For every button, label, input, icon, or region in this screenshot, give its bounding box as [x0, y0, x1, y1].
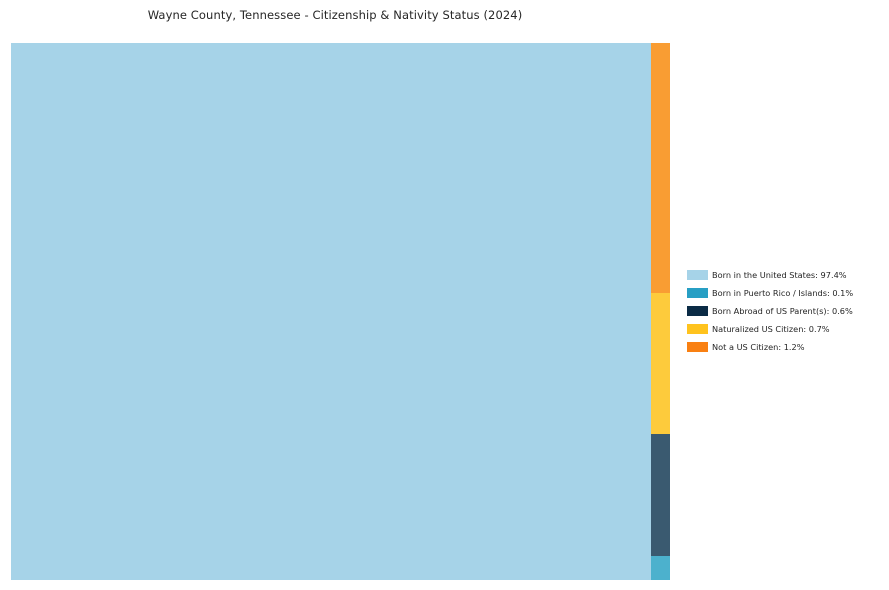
legend-item-label: Naturalized US Citizen: 0.7%: [712, 324, 830, 334]
mosaic-cell-naturalized-us-citizen[interactable]: [651, 293, 670, 434]
legend-item[interactable]: Born Abroad of US Parent(s): 0.6%: [687, 302, 883, 320]
legend-item[interactable]: Not a US Citizen: 1.2%: [687, 338, 883, 356]
legend-swatch-icon: [687, 270, 708, 280]
mosaic-cell-not-a-us-citizen[interactable]: [651, 43, 670, 293]
legend-swatch-icon: [687, 306, 708, 316]
chart-legend: Born in the United States: 97.4% Born in…: [687, 266, 883, 356]
legend-item-label: Born Abroad of US Parent(s): 0.6%: [712, 306, 853, 316]
mosaic-cell-born-in-the-united-states[interactable]: [11, 43, 651, 580]
legend-item[interactable]: Born in Puerto Rico / Islands: 0.1%: [687, 284, 883, 302]
mosaic-cell-born-abroad-of-us-parents[interactable]: [651, 434, 670, 556]
legend-swatch-icon: [687, 342, 708, 352]
mosaic-right-column: [651, 43, 670, 580]
mosaic-cell-born-in-puerto-rico-islands[interactable]: [651, 556, 670, 580]
chart-title: Wayne County, Tennessee - Citizenship & …: [0, 8, 670, 22]
legend-item-label: Born in the United States: 97.4%: [712, 270, 847, 280]
legend-item[interactable]: Born in the United States: 97.4%: [687, 266, 883, 284]
legend-swatch-icon: [687, 324, 708, 334]
legend-item-label: Born in Puerto Rico / Islands: 0.1%: [712, 288, 853, 298]
legend-item[interactable]: Naturalized US Citizen: 0.7%: [687, 320, 883, 338]
legend-item-label: Not a US Citizen: 1.2%: [712, 342, 805, 352]
legend-swatch-icon: [687, 288, 708, 298]
chart-plot-area: [11, 43, 670, 580]
